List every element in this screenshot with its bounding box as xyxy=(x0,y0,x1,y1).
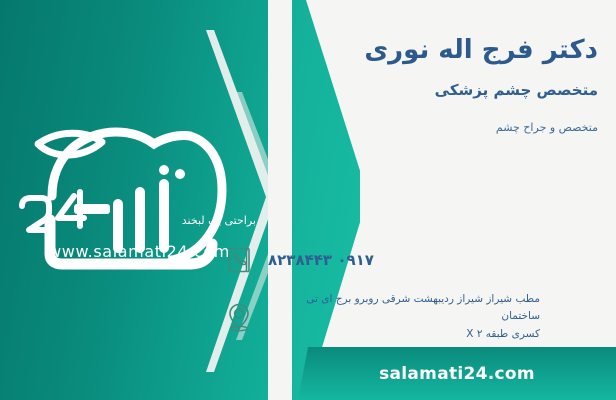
phone-number[interactable]: ۰۹۱۷ ۸۲۳۸۴۴۳ xyxy=(268,251,374,269)
doctor-specialty: متخصص چشم پزشکی xyxy=(228,81,598,99)
address-text[interactable]: مطب شیراز شیراز ردیبهشت شرقی روبرو برج ا… xyxy=(268,291,540,343)
contact-block: ۰۹۱۷ ۸۲۳۸۴۴۳ مطب شیراز شیراز ردیبهشت شرق… xyxy=(222,243,602,357)
phone-row[interactable]: ۰۹۱۷ ۸۲۳۸۴۴۳ xyxy=(222,243,602,277)
footer-ribbon[interactable]: salamati24.com xyxy=(298,347,616,400)
doctor-name: دکتر فرج اله نوری xyxy=(228,34,598,67)
doctor-info-block: دکتر فرج اله نوری متخصص چشم پزشکی متخصص … xyxy=(228,34,598,134)
address-line-2: کسری طبقه ۲ X xyxy=(466,328,540,340)
address-line-1: مطب شیراز شیراز ردیبهشت شرقی روبرو برج ا… xyxy=(306,293,540,322)
business-card: براحتی یک لبخند www.salamati24.com دکتر … xyxy=(0,0,616,400)
location-pin-icon xyxy=(222,300,256,334)
phonebook-icon xyxy=(222,243,256,277)
footer-website[interactable]: salamati24.com xyxy=(379,364,535,384)
address-row[interactable]: مطب شیراز شیراز ردیبهشت شرقی روبرو برج ا… xyxy=(222,291,602,343)
doctor-specialty-sub: متخصص و جراح چشم xyxy=(228,121,598,134)
